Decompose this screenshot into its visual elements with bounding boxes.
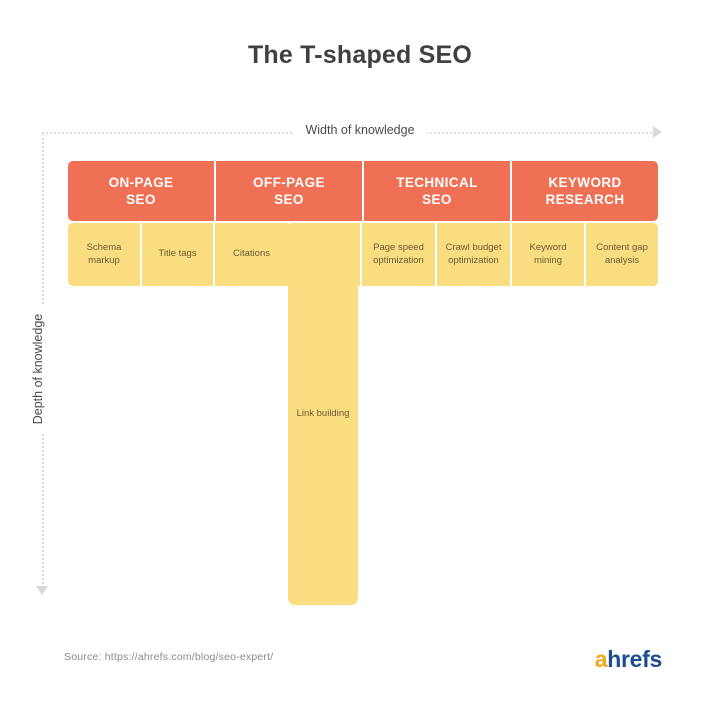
t-shape-diagram: ON-PAGE SEO OFF-PAGE SEO TECHNICAL SEO K… [68, 161, 658, 286]
arrow-down-icon [36, 586, 48, 595]
subskill-cell-title-tags[interactable]: Title tags [142, 223, 213, 286]
subskill-cell-content-gap-analysis[interactable]: Content gap analysis [586, 223, 658, 286]
subskill-cell-crawl-budget-optimization[interactable]: Crawl budget optimization [437, 223, 510, 286]
category-label-line2: SEO [109, 191, 174, 208]
depth-axis-label-text: Depth of knowledge [27, 304, 49, 435]
category-cell-keyword-research[interactable]: KEYWORD RESEARCH [512, 161, 658, 221]
width-axis-label-text: Width of knowledge [293, 123, 426, 137]
subskill-cell-schema-markup[interactable]: Schema markup [68, 223, 140, 286]
subskill-cell-citations[interactable]: Citations [215, 223, 288, 286]
category-label-line2: SEO [253, 191, 325, 208]
category-cell-on-page-seo[interactable]: ON-PAGE SEO [68, 161, 214, 221]
subskill-cell-keyword-mining[interactable]: Keyword mining [512, 223, 584, 286]
source-text: Source: https://ahrefs.com/blog/seo-expe… [64, 651, 273, 663]
ahrefs-logo: ahrefs [595, 646, 662, 673]
logo-accent-letter: a [595, 646, 608, 672]
width-axis-label: Width of knowledge [0, 123, 720, 137]
logo-wordmark: hrefs [607, 646, 662, 672]
category-label-line1: ON-PAGE [109, 174, 174, 191]
category-cell-off-page-seo[interactable]: OFF-PAGE SEO [216, 161, 362, 221]
category-label-line2: SEO [396, 191, 478, 208]
depth-axis-label: Depth of knowledge [31, 279, 45, 459]
subskill-cell-page-speed-optimization[interactable]: Page speed optimization [362, 223, 435, 286]
stem-link-building[interactable]: Link building [288, 224, 358, 605]
category-row: ON-PAGE SEO OFF-PAGE SEO TECHNICAL SEO K… [68, 161, 658, 221]
category-label-line2: RESEARCH [546, 191, 625, 208]
category-label-line1: TECHNICAL [396, 174, 478, 191]
category-label-line1: KEYWORD [546, 174, 625, 191]
stem-label: Link building [297, 408, 350, 421]
category-label-line1: OFF-PAGE [253, 174, 325, 191]
category-cell-technical-seo[interactable]: TECHNICAL SEO [364, 161, 510, 221]
subskill-row: Schema markup Title tags Citations Page … [68, 223, 658, 286]
page-title: The T-shaped SEO [0, 41, 720, 70]
